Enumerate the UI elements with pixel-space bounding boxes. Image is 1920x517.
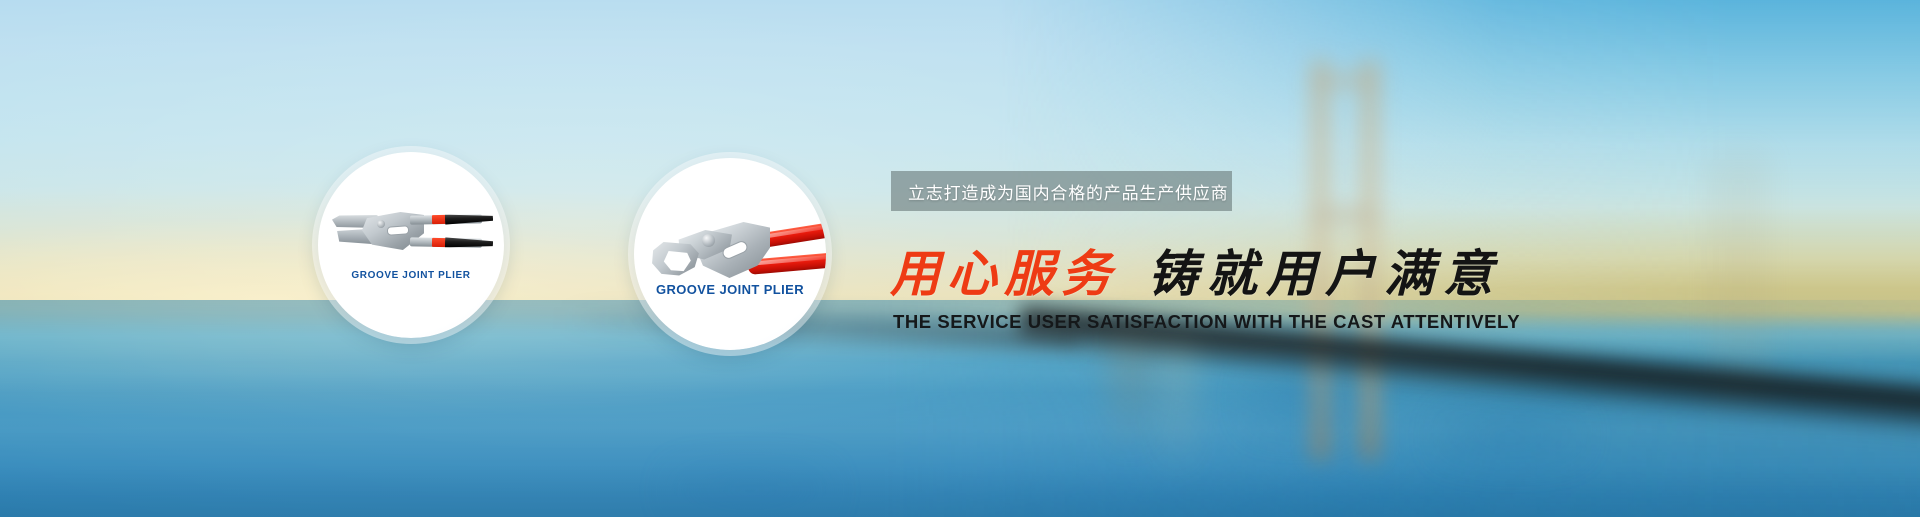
product-label-1: GROOVE JOINT PLIER bbox=[318, 270, 504, 281]
slogan-secondary: 铸就用户满意 bbox=[1148, 249, 1502, 299]
slogan-primary: 用心服务 bbox=[890, 249, 1118, 299]
slogan-row: 用心服务 铸就用户满意 bbox=[890, 249, 1502, 299]
tagline-box: 立志打造成为国内合格的产品生产供应商 bbox=[891, 171, 1232, 211]
groove-joint-plier-icon bbox=[650, 216, 826, 288]
product-circle-1[interactable]: GROOVE JOINT PLIER bbox=[318, 152, 504, 338]
slogan-english-subtitle: THE SERVICE USER SATISFACTION WITH THE C… bbox=[893, 311, 1520, 333]
groove-joint-plier-icon bbox=[332, 204, 492, 260]
tagline-text: 立志打造成为国内合格的产品生产供应商 bbox=[891, 179, 1228, 204]
product-circle-2[interactable]: GROOVE JOINT PLIER bbox=[634, 158, 826, 350]
hero-banner: GROOVE JOINT PLIER GROOVE JOINT PLIER 立志… bbox=[0, 0, 1920, 517]
product-label-2: GROOVE JOINT PLIER bbox=[634, 282, 826, 297]
